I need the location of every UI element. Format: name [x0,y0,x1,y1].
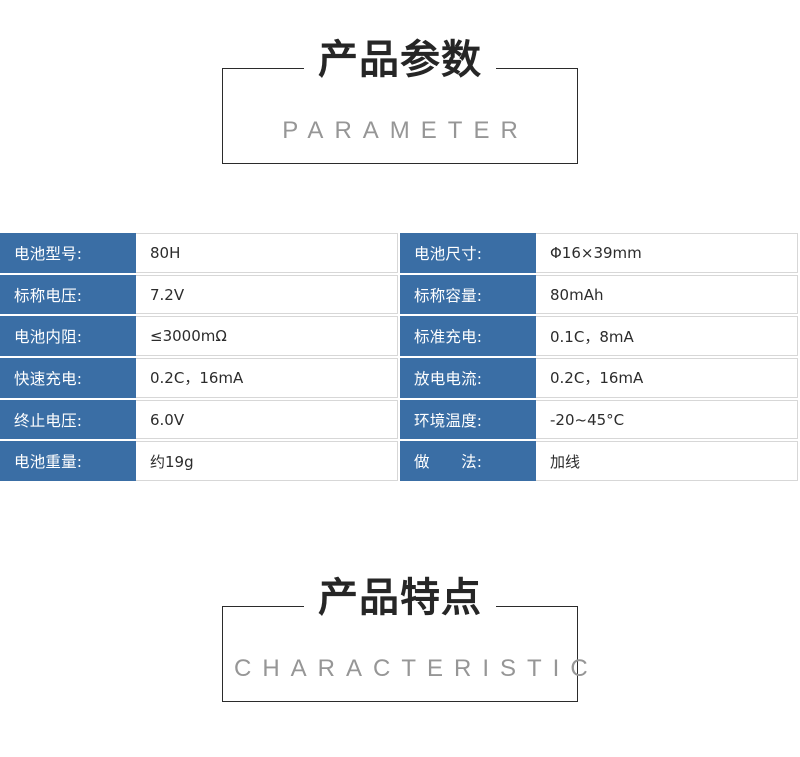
parameter-title-cn: 产品参数 [304,33,496,87]
spec-value: 6.0V [136,400,398,440]
spec-value: -20~45°C [536,400,798,440]
spec-value: 80mAh [536,275,798,315]
spec-cell-pair-left: 电池型号: 80H [0,233,400,275]
spec-value: Φ16×39mm [536,233,798,273]
table-row: 标称电压: 7.2V 标称容量: 80mAh [0,275,800,317]
table-row: 电池型号: 80H 电池尺寸: Φ16×39mm [0,233,800,275]
table-row: 快速充电: 0.2C，16mA 放电电流: 0.2C，16mA [0,358,800,400]
spec-cell-pair-right: 环境温度: -20~45°C [400,400,800,442]
spec-value: 80H [136,233,398,273]
spec-cell-pair-left: 快速充电: 0.2C，16mA [0,358,400,400]
characteristic-title-en: CHARACTERISTIC [223,655,577,683]
spec-label: 放电电流: [400,358,536,398]
spec-label: 电池型号: [0,233,136,273]
spec-value: 0.2C，16mA [136,358,398,398]
spec-label: 环境温度: [400,400,536,440]
spec-cell-pair-left: 电池重量: 约19g [0,441,400,483]
spec-value: 0.2C，16mA [536,358,798,398]
spec-label: 标称电压: [0,275,136,315]
parameter-title-cn-wrapper: 产品参数 [223,33,577,87]
spec-label: 电池内阻: [0,316,136,356]
spec-label: 标准充电: [400,316,536,356]
spec-cell-pair-right: 标准充电: 0.1C，8mA [400,316,800,358]
spec-cell-pair-left: 电池内阻: ≤3000mΩ [0,316,400,358]
section-heading-characteristic: 产品特点 CHARACTERISTIC [222,606,578,702]
section-heading-parameter: 产品参数 PARAMETER [222,68,578,164]
characteristic-title-cn-wrapper: 产品特点 [223,571,577,625]
spec-value: 加线 [536,441,798,481]
spec-label: 快速充电: [0,358,136,398]
spec-cell-pair-left: 标称电压: 7.2V [0,275,400,317]
parameter-title-en: PARAMETER [223,117,577,145]
table-row: 终止电压: 6.0V 环境温度: -20~45°C [0,400,800,442]
table-row: 电池内阻: ≤3000mΩ 标准充电: 0.1C，8mA [0,316,800,358]
spec-value: 7.2V [136,275,398,315]
spec-cell-pair-right: 放电电流: 0.2C，16mA [400,358,800,400]
spec-label: 电池重量: [0,441,136,481]
spec-table: 电池型号: 80H 电池尺寸: Φ16×39mm 标称电压: 7.2V 标称容量… [0,233,800,483]
characteristic-title-cn: 产品特点 [304,571,496,625]
spec-value: 约19g [136,441,398,481]
spec-label: 电池尺寸: [400,233,536,273]
spec-cell-pair-right: 做 法: 加线 [400,441,800,483]
spec-cell-pair-right: 电池尺寸: Φ16×39mm [400,233,800,275]
spec-label: 终止电压: [0,400,136,440]
spec-label: 做 法: [400,441,536,481]
spec-label: 标称容量: [400,275,536,315]
table-row: 电池重量: 约19g 做 法: 加线 [0,441,800,483]
spec-value: 0.1C，8mA [536,316,798,356]
spec-value: ≤3000mΩ [136,316,398,356]
spec-cell-pair-right: 标称容量: 80mAh [400,275,800,317]
spec-cell-pair-left: 终止电压: 6.0V [0,400,400,442]
